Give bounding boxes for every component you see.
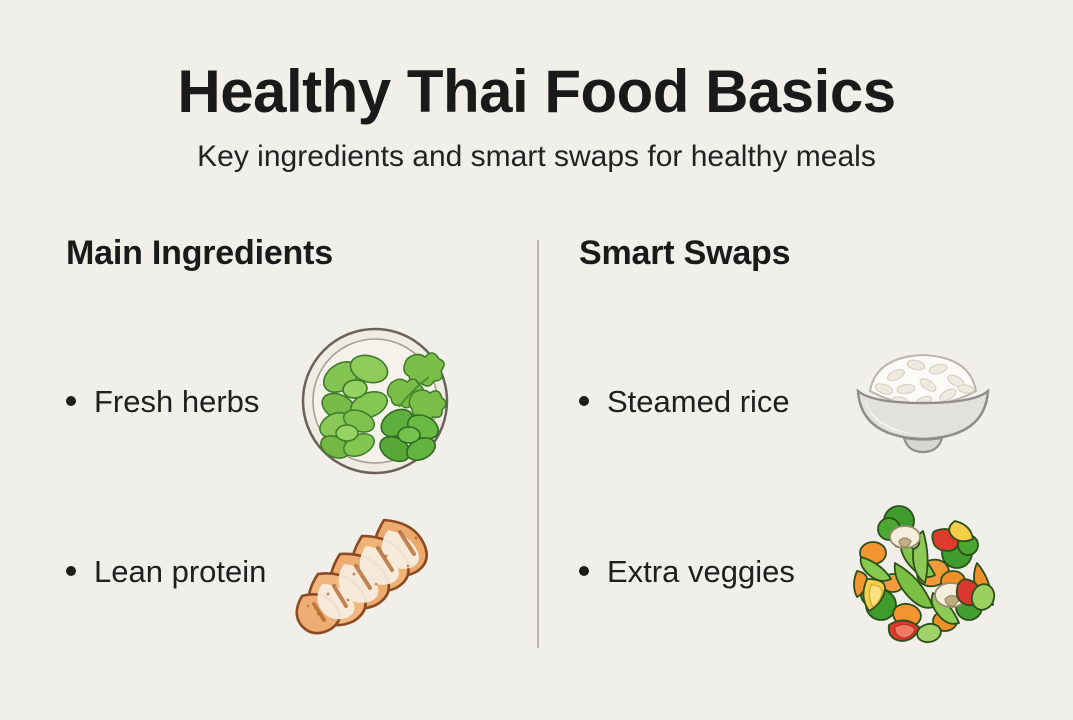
page-subtitle: Key ingredients and smart swaps for heal…: [0, 139, 1073, 175]
page-title: Healthy Thai Food Basics: [0, 60, 1073, 123]
list-item-text: Fresh herbs: [94, 386, 259, 417]
list-item-text: Extra veggies: [607, 556, 795, 587]
bullet-icon: [579, 396, 589, 406]
bullet-icon: [66, 566, 76, 576]
list-item: Extra veggies: [579, 486, 1073, 656]
mixed-vegetables-icon: [837, 497, 1007, 645]
column-main-ingredients: Main Ingredients Fresh herbs: [0, 235, 537, 665]
infographic-poster: Healthy Thai Food Basics Key ingredients…: [0, 0, 1073, 720]
list-item-label-group: Fresh herbs: [66, 386, 259, 417]
bullet-icon: [66, 396, 76, 406]
columns-container: Main Ingredients Fresh herbs: [0, 235, 1073, 665]
list-item-text: Lean protein: [94, 556, 266, 587]
grilled-chicken-icon: [288, 496, 448, 646]
list-item-label-group: Steamed rice: [579, 386, 790, 417]
column-heading-smart-swaps: Smart Swaps: [579, 235, 1073, 272]
smart-swaps-list: Steamed rice: [579, 316, 1073, 656]
rice-bowl-icon: [838, 331, 1008, 471]
column-heading-main-ingredients: Main Ingredients: [66, 235, 537, 272]
list-item: Lean protein: [66, 486, 537, 656]
list-item-label-group: Extra veggies: [579, 556, 795, 587]
list-item: Steamed rice: [579, 316, 1073, 486]
poster-header: Healthy Thai Food Basics Key ingredients…: [0, 60, 1073, 175]
column-smart-swaps: Smart Swaps Steamed rice: [537, 235, 1073, 665]
list-item-text: Steamed rice: [607, 386, 790, 417]
bullet-icon: [579, 566, 589, 576]
list-item-label-group: Lean protein: [66, 556, 266, 587]
list-item: Fresh herbs: [66, 316, 537, 486]
herb-plate-icon: [295, 321, 455, 481]
main-ingredients-list: Fresh herbs: [66, 316, 537, 656]
